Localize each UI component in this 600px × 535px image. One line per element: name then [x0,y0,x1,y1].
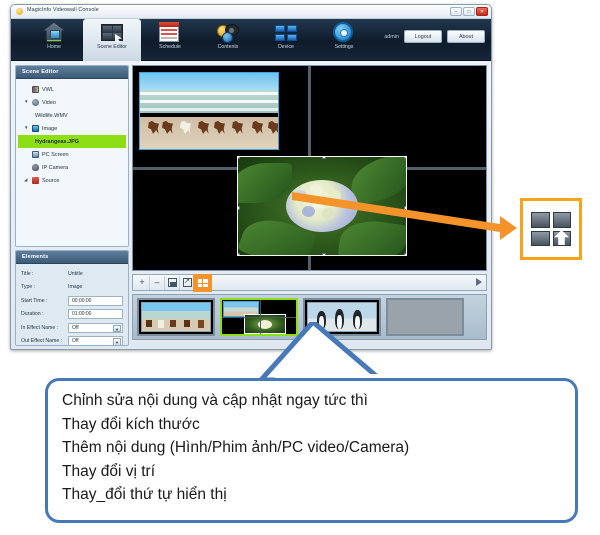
grid-4-icon-large [531,212,571,246]
tree-item-vwl[interactable]: VWL [18,83,126,96]
tab-scene-editor-label: Scene Editor [97,44,127,50]
grid-4-icon [198,279,208,287]
image-sea [140,90,278,113]
save-as-icon [183,278,192,287]
save-button[interactable] [165,276,180,290]
tree-expander[interactable]: ▼ [24,126,29,131]
remove-button[interactable]: – [150,276,165,290]
nav-user-area: admin Logout About [384,30,485,43]
title-bar: MagicInfo Videowall Console – □ ✕ [11,5,491,19]
resize-handle-nw[interactable] [237,156,240,159]
scene-thumbnail-horses[interactable] [137,298,215,336]
scene-editor-panel-header: Scene Editor [16,66,128,79]
main-navigation: Home Scene Editor Schedule Contents [11,19,491,61]
play-button[interactable] [476,278,482,286]
callout-line: Thêm nội dung (Hình/Phim ảnh/PC video/Ca… [62,436,575,460]
duration-input[interactable]: 01:00:00 [68,309,123,319]
tab-schedule-label: Schedule [159,44,181,50]
tab-contents-label: Contents [218,44,239,50]
app-logo-icon [16,8,23,15]
tab-device[interactable]: Device [257,19,315,61]
save-icon [168,278,177,287]
annotation-callout: Chỉnh sửa nội dung và cập nhật ngay tức … [45,378,578,523]
about-button[interactable]: About [447,30,485,43]
tree-item-pc-screen[interactable]: PC Screen [18,148,126,161]
image-icon [32,125,39,132]
field-type-label: Type : [21,284,68,290]
tree-item-source[interactable]: ◢ Source [18,174,126,187]
sidebar: Scene Editor VWL ▼ Video [15,65,129,346]
chevron-down-icon[interactable]: ▼ [113,325,121,333]
ip-camera-icon [32,164,39,171]
tab-schedule[interactable]: Schedule [141,19,199,61]
orange-pointer-arrow [292,186,517,246]
tree-item-video[interactable]: ▼ Video [18,96,126,109]
callout-line: Thay đổi kích thước [62,413,575,437]
field-title: Title : Untitle [21,268,123,279]
tab-contents[interactable]: Contents [199,19,257,61]
tree-item-label: Hydrangeas.JPG [35,139,79,145]
field-in-effect-label: In Effect Name : [21,325,68,331]
wall-cell [311,66,486,167]
field-start-time: Start Time : 00:00:00 [21,295,123,306]
resize-handle-s[interactable] [322,253,326,256]
gear-icon [333,22,355,43]
scene-editor-panel: Scene Editor VWL ▼ Video [15,65,129,247]
tree-item-label: PC Screen [42,152,69,158]
vwl-icon [32,86,39,93]
tree-item-label: Image [42,126,57,132]
start-time-input[interactable]: 00:00:00 [68,296,123,306]
elements-fields: Title : Untitle Type : Image Start Time … [16,264,128,346]
window-title: MagicInfo Videowall Console [27,7,99,13]
close-button[interactable]: ✕ [476,7,488,16]
canvas-item-horses-image[interactable] [139,72,279,150]
home-icon [43,22,65,43]
tree-item-label: Source [42,178,59,184]
callout-line: Chỉnh sửa nội dung và cập nhật ngay tức … [62,389,575,413]
tab-home[interactable]: Home [25,19,83,61]
window-controls: – □ ✕ [450,7,488,16]
callout-line: Thay đổi vị trí [62,460,575,484]
tab-scene-editor[interactable]: Scene Editor [83,19,141,61]
tree-item-hydrangeas-jpg[interactable]: Hydrangeas.JPG [18,135,126,148]
callout-line: Thay_đổi thứ tự hiển thị [62,483,575,507]
image-sky [140,73,278,90]
tab-home-label: Home [47,44,61,50]
plus-icon: + [139,278,144,287]
in-effect-select[interactable]: Off ▼ [68,323,123,333]
field-in-effect: In Effect Name : Off ▼ [21,322,123,333]
resize-handle-n[interactable] [322,156,326,159]
scene-editor-icon [101,22,123,43]
tree-item-label: Wildlife.WMV [35,113,68,119]
maximize-button[interactable]: □ [463,7,475,16]
thumbnail-content [139,300,213,334]
field-duration: Duration : 01:00:00 [21,309,123,320]
tree-item-label: VWL [42,87,54,93]
tab-device-label: Device [278,44,294,50]
field-start-time-label: Start Time : [21,298,68,304]
video-icon [32,99,39,106]
tree-item-label: IP Camera [42,165,68,171]
elements-panel: Elements Title : Untitle Type : Image St… [15,250,129,346]
tree-expander[interactable]: ◢ [24,178,29,183]
callout-tail [255,322,455,384]
field-duration-label: Duration : [21,311,68,317]
field-out-effect-label: Out Effect Name : [21,338,68,344]
current-user-label: admin [384,34,399,40]
elements-panel-header: Elements [16,251,128,264]
tree-item-wildlife-wmv[interactable]: Wildlife.WMV [18,109,126,122]
resize-handle-sw[interactable] [237,253,240,256]
field-title-label: Title : [21,271,68,277]
tab-settings[interactable]: Settings [315,19,373,61]
image-surf [140,92,278,95]
media-icon [217,22,239,43]
out-effect-value: Off [72,338,79,344]
logout-button[interactable]: Logout [404,30,442,43]
chevron-down-icon[interactable]: ▼ [113,338,121,346]
out-effect-select[interactable]: Off ▼ [68,336,123,346]
resize-handle-w[interactable] [237,206,240,210]
minimize-button[interactable]: – [450,7,462,16]
field-out-effect: Out Effect Name : Off ▼ [21,336,123,347]
resize-handle-ne[interactable] [404,156,407,159]
callout-text-block: Chỉnh sửa nội dung và cập nhật ngay tức … [48,381,575,507]
image-surf [140,108,278,111]
image-leaf [237,163,292,203]
field-title-value: Untitle [68,271,83,277]
pc-screen-icon [32,151,39,158]
source-icon [32,177,39,184]
add-button[interactable]: + [135,276,150,290]
field-type: Type : Image [21,282,123,293]
in-effect-value: Off [72,325,79,331]
content-tree: VWL ▼ Video Wildlife.WMV ▼ [16,79,128,246]
field-type-value: Image [68,284,82,290]
layout-grid-button[interactable] [193,274,212,292]
scene-toolbar: + – [132,274,487,291]
image-surf [140,100,278,103]
tree-item-label: Video [42,100,56,106]
device-grid-icon [275,22,297,43]
application-window: MagicInfo Videowall Console – □ ✕ Home S… [10,4,492,350]
layout-grid-icon-zoom [520,198,582,260]
tree-expander[interactable]: ▼ [24,100,29,105]
minus-icon: – [154,278,159,287]
tree-item-image[interactable]: ▼ Image [18,122,126,135]
tab-settings-label: Settings [335,44,354,50]
screenshot-root: MagicInfo Videowall Console – □ ✕ Home S… [0,0,600,535]
calendar-icon [159,22,181,43]
resize-handle-se[interactable] [404,253,407,256]
tree-item-ip-camera[interactable]: IP Camera [18,161,126,174]
